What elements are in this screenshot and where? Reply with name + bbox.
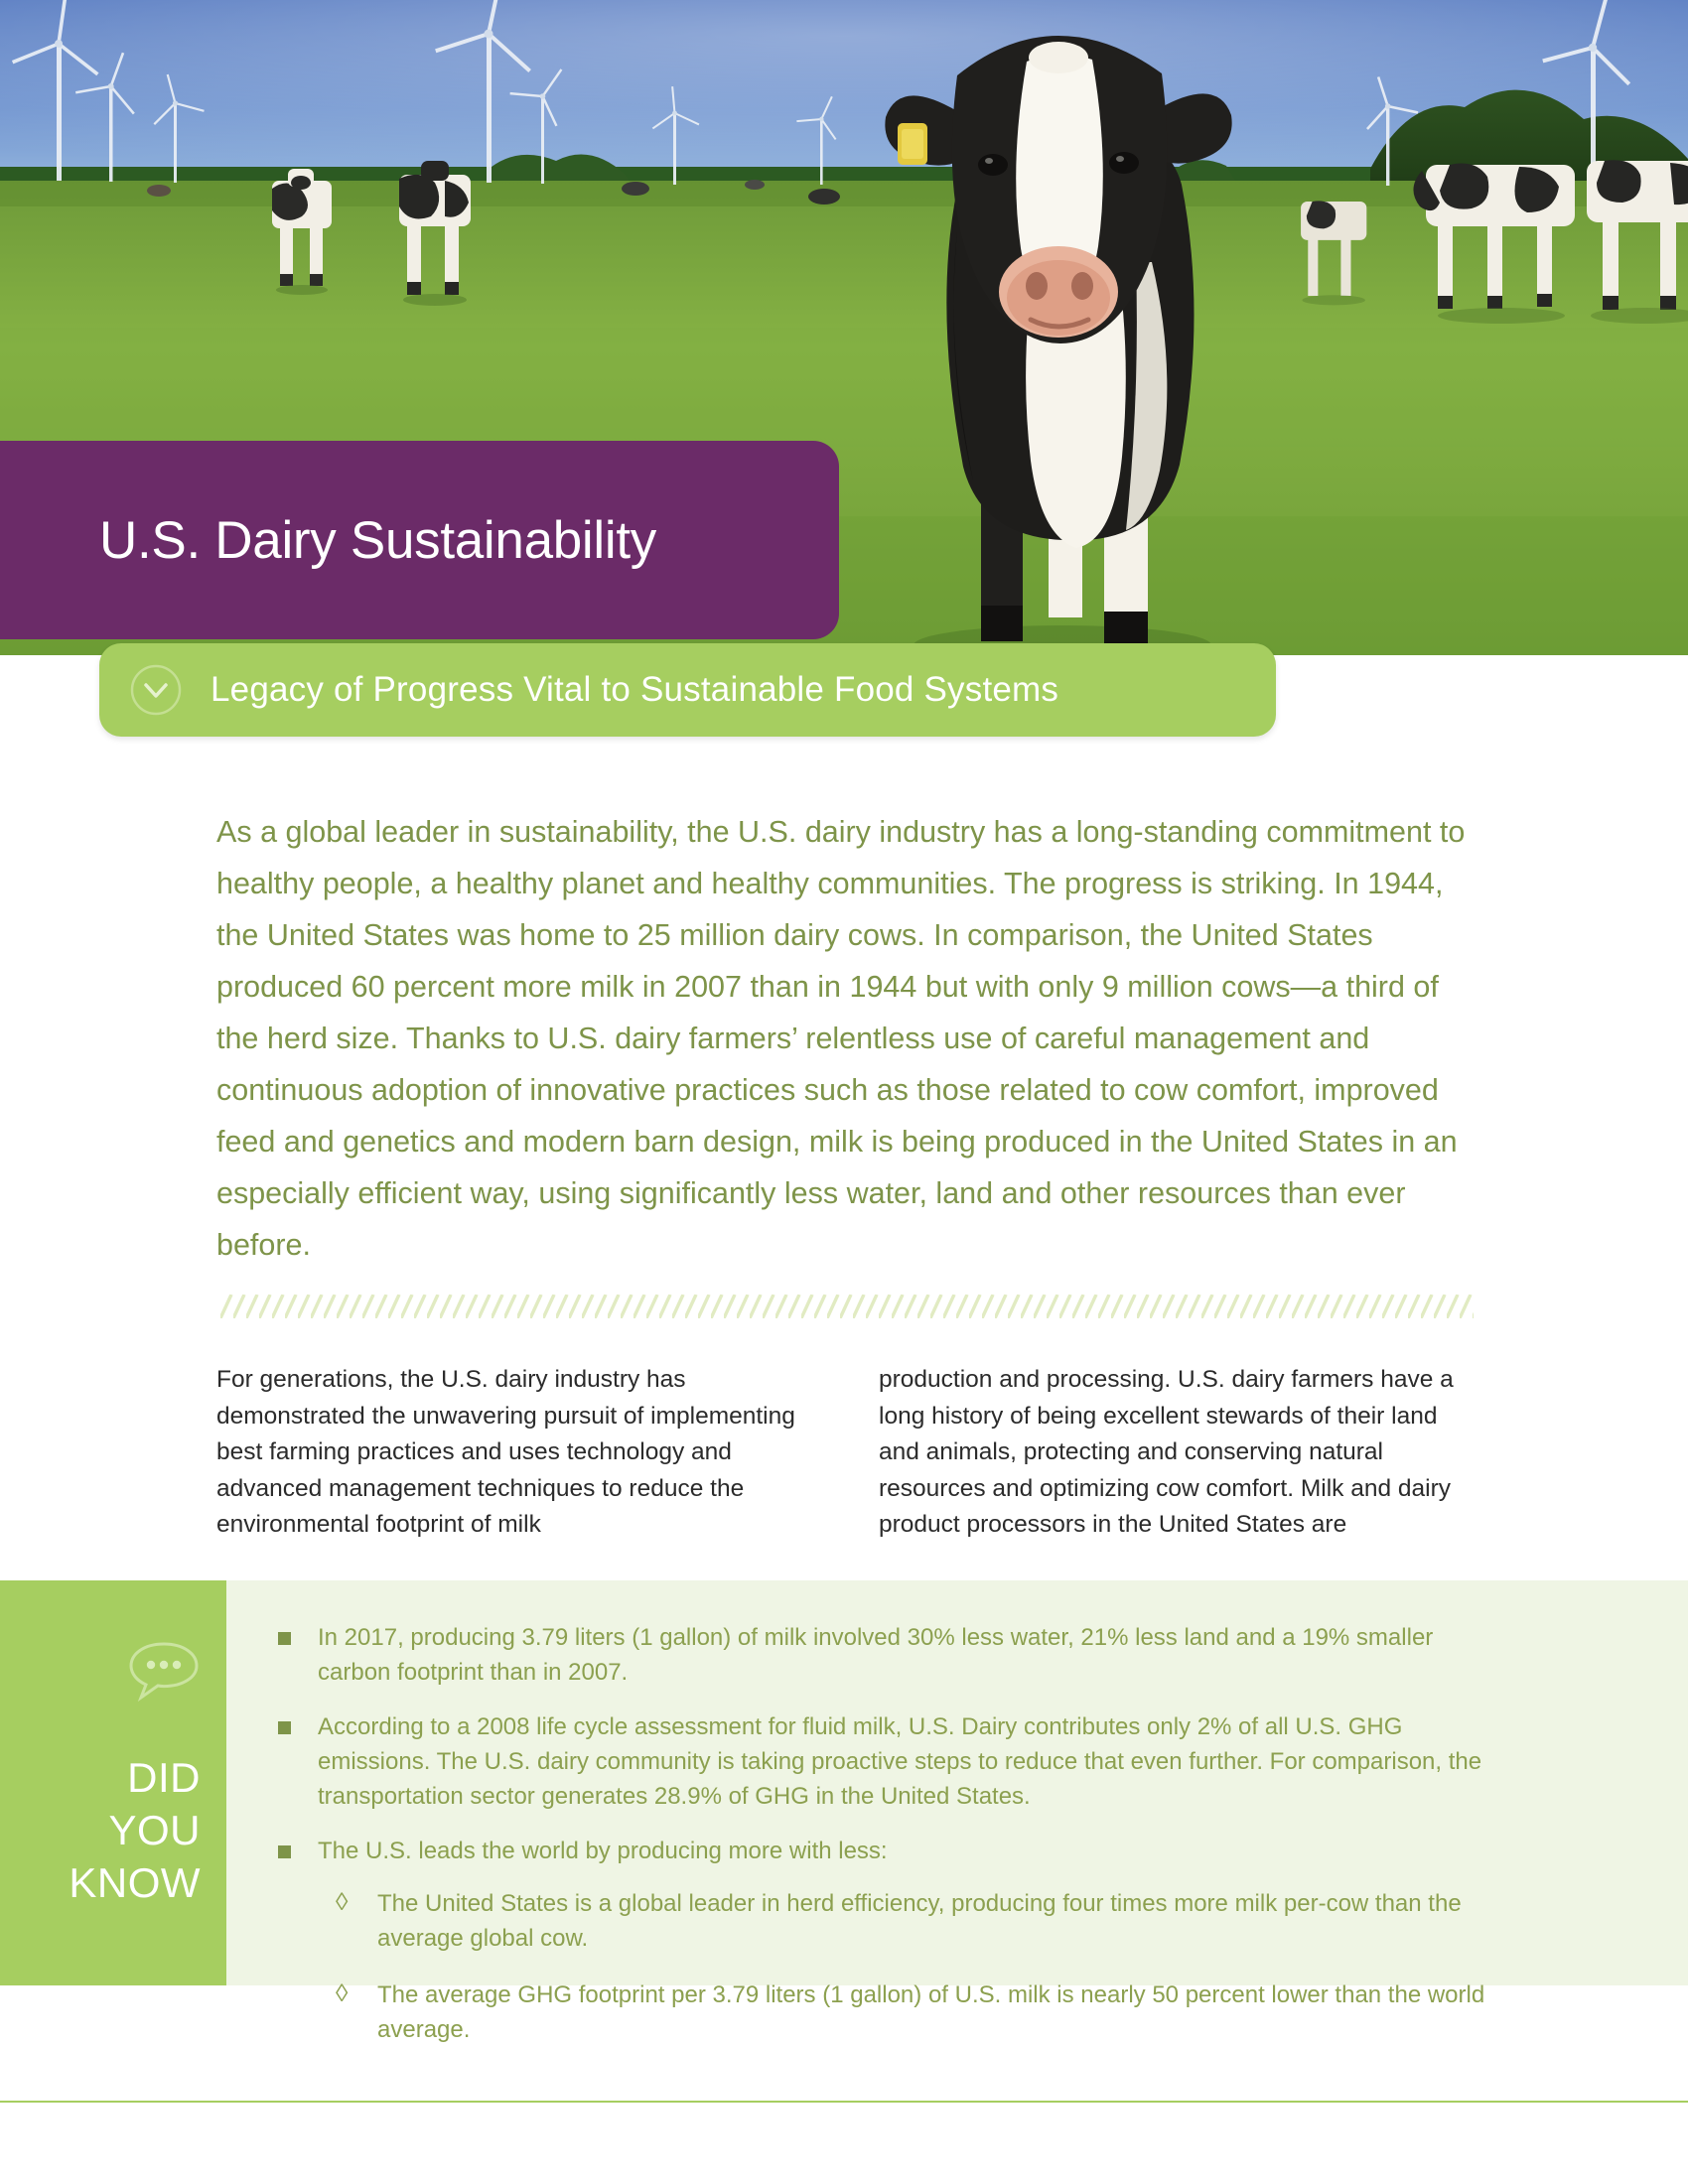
list-item: According to a 2008 life cycle assessmen…: [278, 1709, 1499, 1814]
subfact-text: The average GHG footprint per 3.79 liter…: [377, 1981, 1484, 2043]
fact-sublist: ◊ The United States is a global leader i…: [318, 1886, 1499, 2047]
square-bullet-icon: [278, 1721, 291, 1734]
square-bullet-icon: [278, 1845, 291, 1858]
fact-text: According to a 2008 life cycle assessmen…: [318, 1713, 1481, 1810]
hatch-divider: [220, 1295, 1474, 1318]
body-columns: For generations, the U.S. dairy industry…: [216, 1362, 1476, 1544]
sublist-item: ◊ The United States is a global leader i…: [318, 1886, 1499, 1956]
chevron-down-circle-icon: [129, 663, 183, 717]
list-item: The U.S. leads the world by producing mo…: [278, 1834, 1499, 2047]
document-page: U.S. Dairy Sustainability Legacy of Prog…: [0, 0, 1688, 2184]
square-bullet-icon: [278, 1632, 291, 1645]
intro-paragraph: As a global leader in sustainability, th…: [216, 806, 1473, 1271]
speech-bubble-icon: [127, 1640, 201, 1702]
body-column-left: For generations, the U.S. dairy industry…: [216, 1362, 813, 1544]
fact-list: In 2017, producing 3.79 liters (1 gallon…: [278, 1620, 1499, 2047]
subfact-text: The United States is a global leader in …: [377, 1890, 1462, 1952]
list-item: In 2017, producing 3.79 liters (1 gallon…: [278, 1620, 1499, 1690]
fact-text: In 2017, producing 3.79 liters (1 gallon…: [318, 1624, 1433, 1686]
subtitle-banner: Legacy of Progress Vital to Sustainable …: [99, 643, 1276, 737]
diamond-bullet-icon: ◊: [336, 1885, 348, 1920]
diamond-bullet-icon: ◊: [336, 1977, 348, 2011]
dyk-line-know: KNOW: [69, 1856, 201, 1909]
body-column-right: production and processing. U.S. dairy fa…: [879, 1362, 1476, 1544]
did-you-know-label-panel: DID YOU KNOW: [0, 1580, 226, 1985]
footer-divider: [0, 2101, 1688, 2103]
subtitle-text: Legacy of Progress Vital to Sustainable …: [211, 670, 1058, 710]
did-you-know-text: DID YOU KNOW: [69, 1751, 201, 1909]
page-title: U.S. Dairy Sustainability: [0, 510, 656, 571]
did-you-know-section: DID YOU KNOW In 2017, producing 3.79 lit…: [0, 1580, 1688, 1985]
title-banner: U.S. Dairy Sustainability: [0, 441, 839, 639]
dyk-line-you: YOU: [69, 1804, 201, 1856]
dyk-line-did: DID: [69, 1751, 201, 1804]
did-you-know-body: In 2017, producing 3.79 liters (1 gallon…: [226, 1580, 1688, 1985]
sublist-item: ◊ The average GHG footprint per 3.79 lit…: [318, 1978, 1499, 2047]
fact-text: The U.S. leads the world by producing mo…: [318, 1838, 888, 1864]
